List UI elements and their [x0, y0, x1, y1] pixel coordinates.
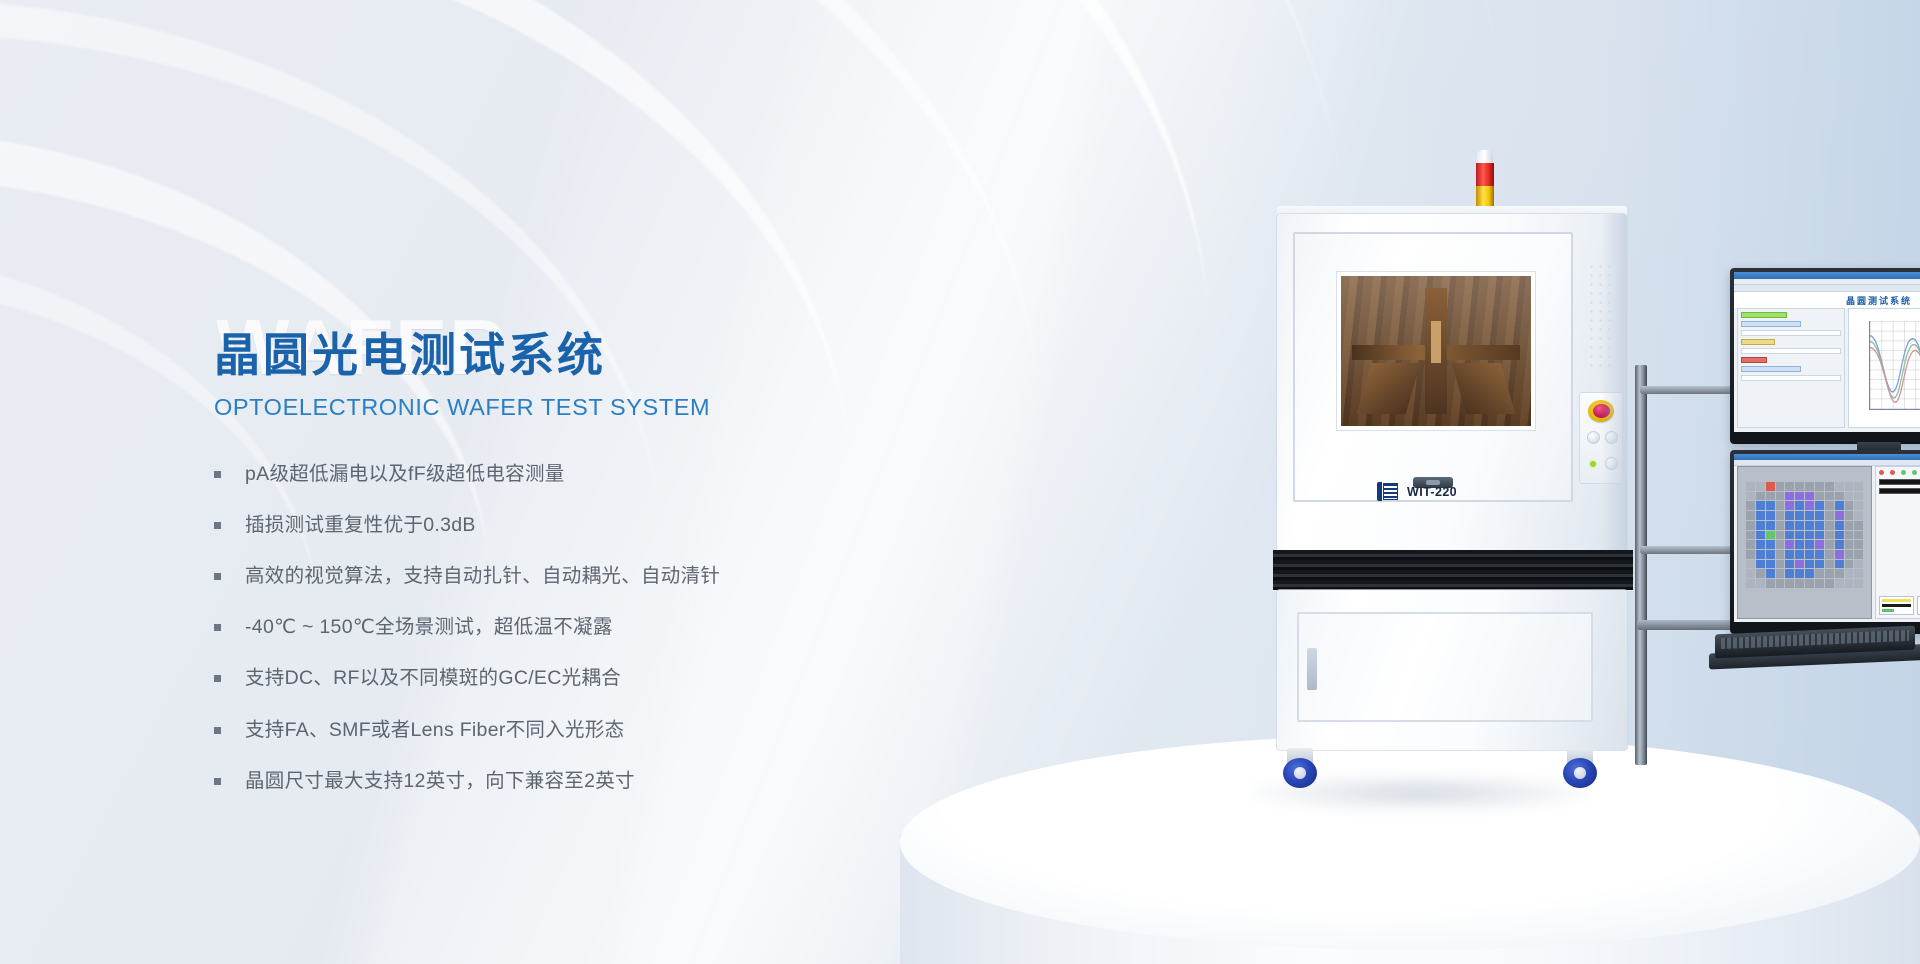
measurement-card-row: [1879, 596, 1920, 615]
power-led-indicator: [1590, 461, 1596, 467]
feature-list: pA级超低漏电以及fF级超低电容测量 插损测试重复性优于0.3dB 高效的视觉算…: [214, 459, 914, 797]
measurement-card: [1879, 596, 1914, 615]
feature-text: 支持FA、SMF或者Lens Fiber不同入光形态: [245, 715, 624, 745]
lower-service-panel[interactable]: [1297, 612, 1593, 722]
monitor-top-bezel: 晶圆测试系统: [1730, 268, 1920, 444]
list-item: 晶圆尺寸最大支持12英寸，向下兼容至2英寸: [214, 766, 914, 796]
monitor-top: 晶圆测试系统: [1730, 268, 1920, 444]
control-panel-plate: [1579, 392, 1623, 484]
feature-text: pA级超低漏电以及fF级超低电容测量: [245, 459, 565, 489]
control-knob-start[interactable]: [1587, 431, 1600, 444]
list-item: 支持DC、RF以及不同模斑的GC/EC光耦合: [214, 663, 914, 693]
caster-wheel-left: [1283, 748, 1317, 790]
bullet-icon: [214, 471, 221, 478]
prober-viewing-window: [1341, 276, 1531, 426]
machine-brand-plate: WIT-220: [1377, 482, 1457, 501]
feature-text: 晶圆尺寸最大支持12英寸，向下兼容至2英寸: [245, 766, 635, 796]
hero-banner: WIT-220 晶圆测试系统: [0, 0, 1920, 964]
wafer-map-window: [1734, 454, 1920, 622]
software-body: [1734, 308, 1920, 428]
wafer-die-map[interactable]: [1737, 466, 1872, 619]
wafer-map-status-panel: [1875, 466, 1920, 619]
bullet-icon: [214, 624, 221, 631]
control-knob-stop[interactable]: [1605, 431, 1618, 444]
caster-wheel-right: [1563, 748, 1597, 790]
list-item: 插损测试重复性优于0.3dB: [214, 510, 914, 540]
prober-arm-left: [1356, 363, 1420, 414]
feature-text: -40℃ ~ 150℃全场景测试，超低温不凝露: [245, 612, 613, 642]
monitor-top-screen[interactable]: 晶圆测试系统: [1734, 272, 1920, 432]
prober-probe-head: [1431, 321, 1441, 363]
cabinet-bellows-band: [1273, 550, 1633, 590]
page-subtitle: OPTOELECTRONIC WAFER TEST SYSTEM: [214, 394, 914, 421]
bullet-icon: [214, 675, 221, 682]
list-item: 高效的视觉算法，支持自动扎针、自动耦光、自动清针: [214, 561, 914, 591]
monitor-arm-upper: [1640, 386, 1735, 394]
bullet-icon: [214, 778, 221, 785]
feature-text: 支持DC、RF以及不同模斑的GC/EC光耦合: [245, 663, 621, 693]
monitor-arm-post: [1635, 365, 1647, 765]
wafer-test-machine: WIT-220 晶圆测试系统: [1185, 150, 1805, 800]
hero-copy: WAFER 晶圆光电测试系统 OPTOELECTRONIC WAFER TEST…: [214, 330, 914, 817]
cabinet-lower: [1277, 590, 1627, 750]
page-title: 晶圆光电测试系统: [214, 330, 914, 382]
prober-access-door: [1293, 232, 1573, 502]
wafer-die-grid: [1746, 482, 1863, 588]
bullet-icon: [214, 727, 221, 734]
software-toolbar[interactable]: [1734, 285, 1920, 292]
bullet-icon: [214, 522, 221, 529]
ventilation-grille: [1587, 262, 1615, 372]
list-item: 支持FA、SMF或者Lens Fiber不同入光形态: [214, 715, 914, 745]
monitor-bottom-screen[interactable]: [1734, 454, 1920, 622]
feature-text: 插损测试重复性优于0.3dB: [245, 510, 476, 540]
company-logo: [1377, 482, 1398, 501]
machine-control-column: [1577, 244, 1625, 494]
emergency-stop-button[interactable]: [1588, 400, 1614, 422]
list-item: pA级超低漏电以及fF级超低电容测量: [214, 459, 914, 489]
status-led-row: [1879, 470, 1920, 475]
machine-model-label: WIT-220: [1407, 485, 1457, 499]
test-software-window: 晶圆测试系统: [1734, 272, 1920, 432]
tower-cap: [1477, 150, 1493, 164]
cabinet-upper: WIT-220: [1277, 214, 1627, 554]
software-parameter-panel[interactable]: [1737, 308, 1845, 428]
status-readout-bar: [1879, 479, 1920, 485]
list-item: -40℃ ~ 150℃全场景测试，超低温不凝露: [214, 612, 914, 642]
control-knob-reset[interactable]: [1605, 457, 1618, 470]
wafer-map-body: [1734, 466, 1920, 619]
software-app-title: 晶圆测试系统: [1734, 292, 1920, 308]
software-spectrum-chart: [1848, 308, 1920, 428]
monitor-arm-lower: [1640, 546, 1735, 554]
monitor-bottom-bezel: [1730, 450, 1920, 634]
prober-arm-right: [1452, 363, 1516, 414]
bullet-icon: [214, 573, 221, 580]
status-readout-bar-2: [1879, 488, 1920, 494]
tower-red-lamp: [1476, 163, 1494, 186]
feature-text: 高效的视觉算法，支持自动扎针、自动耦光、自动清针: [245, 561, 720, 591]
monitor-bottom: [1730, 450, 1920, 634]
software-titlebar: [1734, 272, 1920, 279]
